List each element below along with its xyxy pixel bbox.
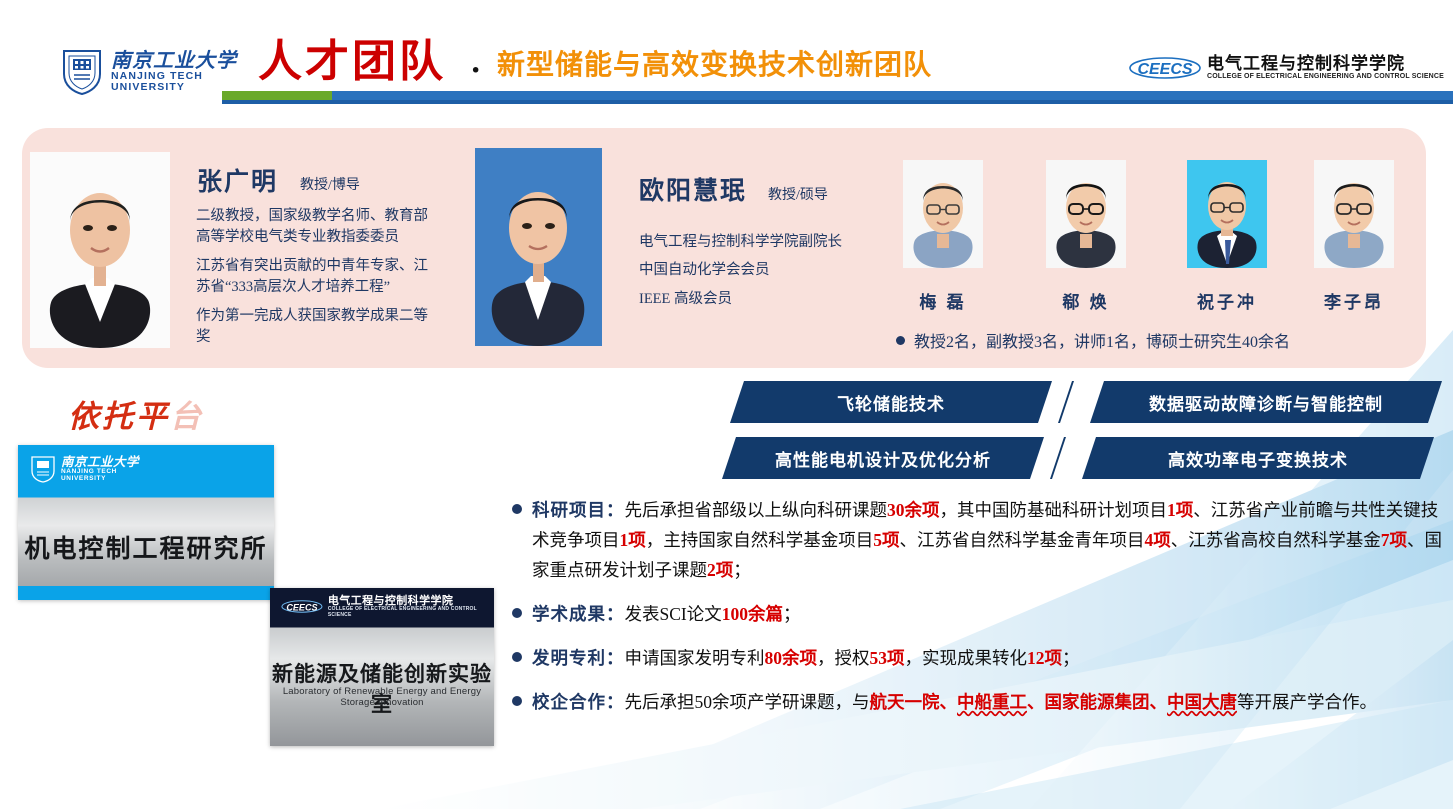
member-name-0: 梅 磊 xyxy=(903,288,983,313)
staff-summary-text: 教授2名，副教授3名，讲师1名，博硕士研究生40余名 xyxy=(914,328,1290,352)
professor-bio-line: 高等学校电气类专业教指委委员 xyxy=(196,227,458,248)
professor-bio-line: 作为第一完成人获国家教学成果二等 xyxy=(196,306,458,327)
achievement-item-2: 发明专利：申请国家发明专利80余项，授权53项，实现成果转化12项； xyxy=(512,643,1442,673)
portrait-ouyang-huimin xyxy=(475,148,602,346)
staff-summary: 教授2名，副教授3名，讲师1名，博硕士研究生40余名 xyxy=(896,328,1290,352)
page-header: 南京工业大学 NANJING TECH UNIVERSITY 人才团队 · 新型… xyxy=(0,0,1453,112)
page-title: 人才团队 xyxy=(258,40,446,84)
research-direction-label: 飞轮储能技术 xyxy=(837,390,945,415)
achievement-item-0: 科研项目：先后承担省部级以上纵向科研课题30余项，其中国防基础科研计划项目1项、… xyxy=(512,495,1442,585)
research-direction-2[interactable]: 高性能电机设计及优化分析 xyxy=(722,437,1044,479)
research-direction-label: 高性能电机设计及优化分析 xyxy=(775,446,991,471)
achievement-item-1: 学术成果：发表SCI论文100余篇； xyxy=(512,599,1442,629)
platform-title-strong: 依托平 xyxy=(68,399,170,434)
achievement-label: 科研项目： xyxy=(532,500,625,520)
bullet-icon xyxy=(512,504,522,514)
njtech-name-cn: 南京工业大学 xyxy=(111,51,237,71)
ceecs-name-en: COLLEGE OF ELECTRICAL ENGINEERING AND CO… xyxy=(1207,73,1444,80)
portrait-li-ziang xyxy=(1314,160,1394,268)
professor-role-1: 教授/博导 xyxy=(300,174,360,194)
research-direction-3[interactable]: 高效功率电子变换技术 xyxy=(1082,437,1434,479)
ceecs-mark-icon: CEECS xyxy=(1128,54,1202,82)
sign1-university-en2: UNIVERSITY xyxy=(61,476,139,483)
achievement-label: 校企合作： xyxy=(532,692,625,712)
professor-role-2: 教授/硕导 xyxy=(768,184,828,204)
bullet-icon xyxy=(896,336,905,345)
header-rule-blue-dark xyxy=(222,100,1453,104)
member-name-3: 李子昂 xyxy=(1314,288,1394,313)
sign2-header: CEECS 电气工程与控制科学学院 COLLEGE OF ELECTRICAL … xyxy=(280,595,494,618)
research-direction-2-tail xyxy=(1050,437,1066,479)
page-subtitle: 新型储能与高效变换技术创新团队 xyxy=(497,52,932,80)
njtech-name-en-line2: UNIVERSITY xyxy=(111,82,237,93)
research-direction-label: 数据驱动故障诊断与智能控制 xyxy=(1149,390,1383,415)
achievement-label: 发明专利： xyxy=(532,648,625,668)
bullet-icon xyxy=(512,608,522,618)
ceecs-mark-icon: CEECS xyxy=(280,598,324,615)
achievement-text: 先后承担省部级以上纵向科研课题30余项，其中国防基础科研计划项目1项、江苏省产业… xyxy=(532,500,1442,580)
research-direction-label: 高效功率电子变换技术 xyxy=(1168,446,1348,471)
bullet-icon xyxy=(512,652,522,662)
portrait-xi-huan xyxy=(1046,160,1126,268)
achievement-label: 学术成果： xyxy=(532,604,625,624)
achievement-text: 先后承担50余项产学研课题，与航天一院、中船重工、国家能源集团、中国大唐等开展产… xyxy=(625,692,1378,712)
sign1-university-cn: 南京工业大学 xyxy=(61,456,139,469)
professor-bio-line: 江苏省有突出贡献的中青年专家、江 xyxy=(196,256,458,277)
sign1-bottom-bar xyxy=(18,586,274,600)
sign2-college-en: COLLEGE OF ELECTRICAL ENGINEERING AND CO… xyxy=(328,607,494,618)
bullet-icon xyxy=(512,696,522,706)
research-direction-1[interactable]: 数据驱动故障诊断与智能控制 xyxy=(1090,381,1442,423)
professor-name-1: 张广明 xyxy=(197,162,278,198)
portrait-zhang-guangming xyxy=(30,152,170,348)
portrait-mei-lei xyxy=(903,160,983,268)
member-name-2: 祝子冲 xyxy=(1187,288,1267,313)
professor-bio-line: 中国自动化学会会员 xyxy=(639,256,909,284)
sign2-lab-name-en: Laboratory of Renewable Energy and Energ… xyxy=(270,686,494,708)
platform-section-title: 依托平台 xyxy=(68,391,204,436)
platform-title-fade: 台 xyxy=(170,399,204,434)
professor-name-2: 欧阳慧珉 xyxy=(639,171,747,207)
ceecs-name-cn: 电气工程与控制科学学院 xyxy=(1207,55,1444,73)
professor-bio-line: 二级教授，国家级教学名师、教育部 xyxy=(196,206,458,227)
member-name-1: 郗 焕 xyxy=(1046,288,1126,313)
lab-sign-new-energy: CEECS 电气工程与控制科学学院 COLLEGE OF ELECTRICAL … xyxy=(270,588,494,746)
achievements-list: 科研项目：先后承担省部级以上纵向科研课题30余项，其中国防基础科研计划项目1项、… xyxy=(512,495,1442,718)
professor-bio-line: 苏省“333高层次人才培养工程” xyxy=(196,277,458,298)
svg-text:CEECS: CEECS xyxy=(1137,61,1192,78)
svg-text:CEECS: CEECS xyxy=(286,602,317,612)
research-direction-0-tail xyxy=(1058,381,1074,423)
header-rule-blue xyxy=(332,91,1453,100)
portrait-zhu-zichong xyxy=(1187,160,1267,268)
njtech-shield-icon xyxy=(30,455,56,483)
research-direction-0[interactable]: 飞轮储能技术 xyxy=(730,381,1052,423)
achievement-text: 申请国家发明专利80余项，授权53项，实现成果转化12项； xyxy=(625,648,1080,668)
njtech-shield-icon xyxy=(60,48,104,96)
nanjing-tech-logo: 南京工业大学 NANJING TECH UNIVERSITY xyxy=(60,48,237,96)
sign1-institute-name: 机电控制工程研究所 xyxy=(18,529,274,565)
professor-bio-line: 电气工程与控制科学学院副院长 xyxy=(639,228,909,256)
achievement-item-3: 校企合作：先后承担50余项产学研课题，与航天一院、中船重工、国家能源集团、中国大… xyxy=(512,687,1442,717)
header-rule-green xyxy=(222,91,332,100)
title-separator: · xyxy=(470,52,481,90)
sign1-header: 南京工业大学 NANJING TECH UNIVERSITY xyxy=(30,455,139,483)
professor-bio-line: 奖 xyxy=(196,327,458,348)
lab-sign-electromechanical: 南京工业大学 NANJING TECH UNIVERSITY 机电控制工程研究所 xyxy=(18,445,274,600)
achievement-text: 发表SCI论文100余篇； xyxy=(625,604,801,624)
ceecs-logo: CEECS 电气工程与控制科学学院 COLLEGE OF ELECTRICAL … xyxy=(1128,54,1444,82)
professor-bio-line: IEEE 高级会员 xyxy=(639,285,909,313)
